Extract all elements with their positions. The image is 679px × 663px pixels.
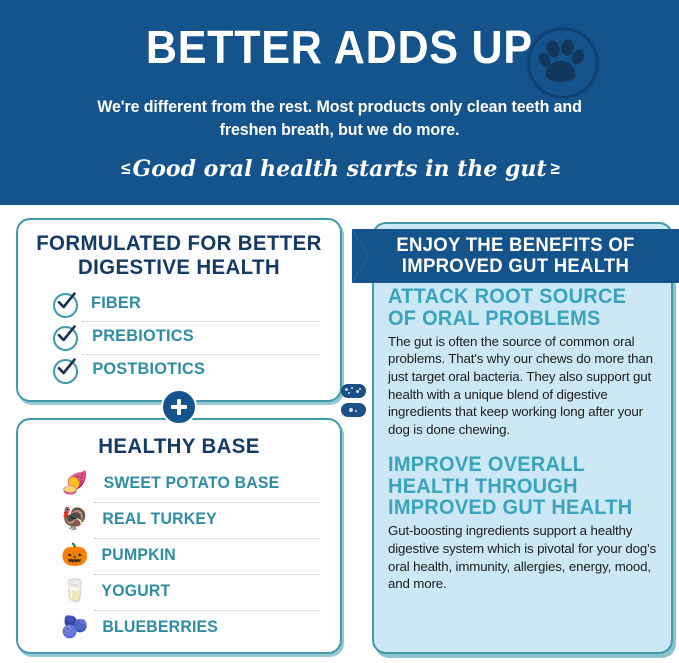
list-item-label: BLUEBERRIES [102,618,218,637]
list-item-label: PREBIOTICS [92,326,194,346]
paw-print-icon [528,28,594,94]
section-2-heading-line1: IMPROVE OVERALL [388,454,644,476]
benefits-section-1-body: The gut is often the source of common or… [388,333,657,439]
digestive-health-card: FORMULATED FOR BETTER DIGESTIVE HEALTH F… [16,218,342,402]
yogurt-icon: 🥛 [58,576,92,606]
list-item: POSTBIOTICS [18,353,340,386]
digestive-card-title: FORMULATED FOR BETTER DIGESTIVE HEALTH [26,220,332,280]
section-1-heading-line2: OF ORAL PROBLEMS [388,308,644,330]
list-item: FIBER [18,287,340,320]
digestive-title-line1: FORMULATED FOR BETTER [26,231,332,255]
header-subtitle: We're different from the rest. Most prod… [68,96,610,143]
section-1-heading-line1: ATTACK ROOT SOURCE [388,286,644,308]
chew-thumbnail-top [341,384,366,398]
script-tagline-text: Good oral health starts in the gut [132,156,546,182]
dash-left-icon: ≤ [117,159,132,179]
list-item: PREBIOTICS [18,320,340,353]
infographic-page: BETTER ADDS UP We're different from the … [0,0,679,663]
list-item: 🍠 SWEET POTATO BASE [18,465,340,501]
list-item: 🥛 YOGURT [18,573,340,609]
healthy-base-card: HEALTHY BASE 🍠 SWEET POTATO BASE 🦃 REAL … [16,418,342,654]
base-item-list: 🍠 SWEET POTATO BASE 🦃 REAL TURKEY 🎃 PUMP… [18,465,340,645]
pumpkin-icon: 🎃 [58,540,92,570]
benefits-ribbon-banner: ENJOY THE BENEFITS OF IMPROVED GUT HEALT… [352,229,679,283]
benefits-section-2-body: Gut-boosting ingredients support a healt… [388,522,657,593]
benefits-section-1-heading: ATTACK ROOT SOURCE OF ORAL PROBLEMS [388,286,644,330]
list-item-label: POSTBIOTICS [92,359,205,379]
benefits-section-2-heading: IMPROVE OVERALL HEALTH THROUGH IMPROVED … [388,454,644,519]
check-circle-icon [52,323,78,349]
list-item-label: FIBER [91,293,141,313]
section-2-heading-line3: IMPROVED GUT HEALTH [388,497,644,519]
benefits-panel: ATTACK ROOT SOURCE OF ORAL PROBLEMS The … [372,222,673,654]
chew-thumbnail-bottom [341,403,366,417]
header-banner: BETTER ADDS UP We're different from the … [0,0,679,205]
digestive-title-line2: DIGESTIVE HEALTH [26,255,332,279]
list-item-label: REAL TURKEY [102,510,216,529]
dash-right-icon: ≥ [547,159,562,179]
plus-icon [161,389,197,425]
blueberries-icon: 🫐 [58,612,92,642]
check-circle-icon [52,290,78,316]
header-script-tagline: ≤Good oral health starts in the gut≥ [0,156,679,182]
digestive-item-list: FIBER PREBIOTICS POSTBIOTICS [18,287,340,386]
list-item-label: PUMPKIN [102,546,176,565]
list-item: 🦃 REAL TURKEY [18,501,340,537]
turkey-icon: 🦃 [58,504,92,534]
list-item: 🎃 PUMPKIN [18,537,340,573]
base-card-title: HEALTHY BASE [26,420,332,458]
check-circle-icon [52,356,78,382]
sweet-potato-icon: 🍠 [58,468,92,498]
list-item: 🫐 BLUEBERRIES [18,609,340,645]
section-2-heading-line2: HEALTH THROUGH [388,476,644,498]
list-item-label: YOGURT [101,582,170,601]
list-item-label: SWEET POTATO BASE [104,474,280,493]
